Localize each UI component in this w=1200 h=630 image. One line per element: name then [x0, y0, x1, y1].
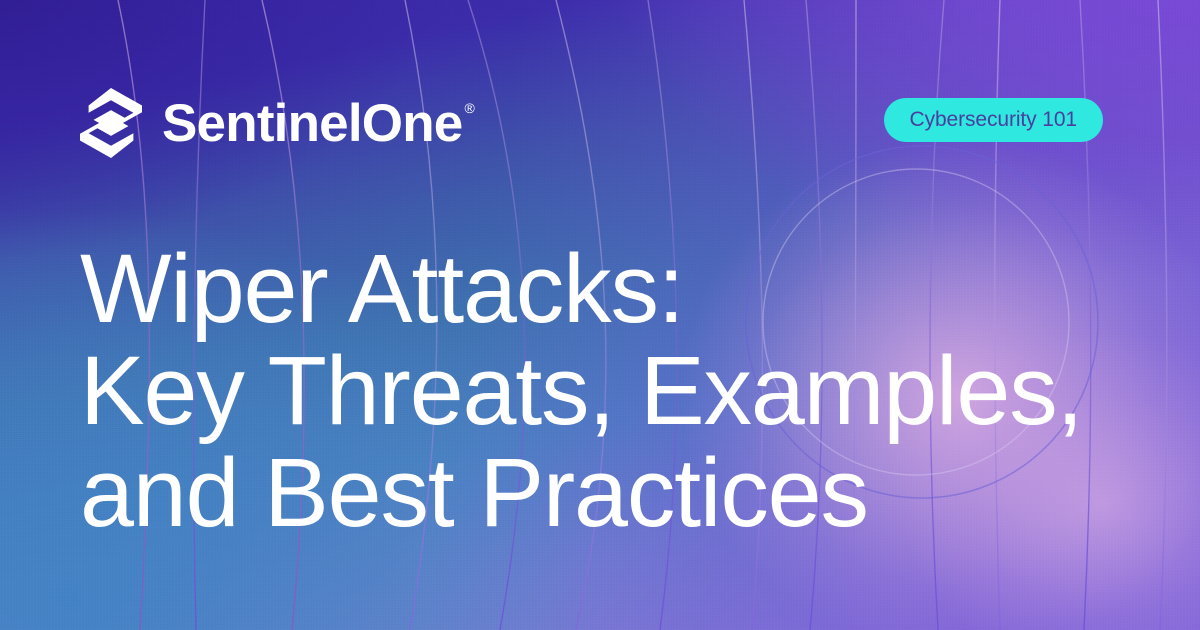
page-title: Wiper Attacks: Key Threats, Examples, an… [80, 238, 1160, 544]
banner-content: SentinelOne ® Cybersecurity 101 Wiper At… [0, 0, 1200, 630]
headline-line-2: Key Threats, Examples, [80, 340, 1160, 442]
headline-line-3: and Best Practices [80, 442, 1160, 544]
brand-name-text: SentinelOne [162, 97, 462, 150]
brand-logo[interactable]: SentinelOne ® [80, 88, 475, 158]
headline-line-1: Wiper Attacks: [80, 238, 1160, 340]
brand-wordmark: SentinelOne ® [162, 97, 475, 150]
sentinelone-hexagon-logo-icon [80, 88, 142, 158]
category-badge-label: Cybersecurity 101 [910, 108, 1077, 132]
social-share-banner: SentinelOne ® Cybersecurity 101 Wiper At… [0, 0, 1200, 630]
category-badge[interactable]: Cybersecurity 101 [884, 98, 1103, 142]
registered-trademark-icon: ® [464, 101, 474, 115]
